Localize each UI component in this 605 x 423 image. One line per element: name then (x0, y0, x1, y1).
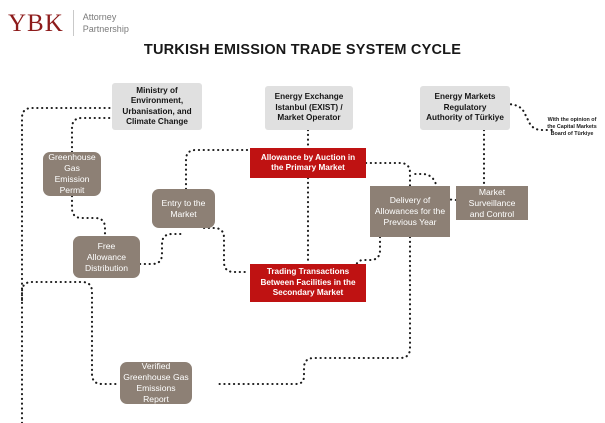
node-secondary-market[interactable]: Trading Transactions Between Facilities … (250, 264, 366, 302)
node-delivery-allowances[interactable]: Delivery of Allowances for the Previous … (370, 186, 450, 237)
node-greenhouse-permit-label: Greenhouse Gas Emission Permit (46, 152, 98, 196)
connector-permit-to-free-allowance (72, 196, 105, 236)
connector-permit-to-ministry (72, 118, 112, 152)
node-secondary-market-label: Trading Transactions Between Facilities … (260, 267, 355, 299)
connector-entry-to-secondary (204, 228, 248, 272)
node-free-allowance-label: Free Allowance Distribution (85, 241, 128, 274)
connector-delivery-to-bottom-loop (218, 237, 410, 384)
node-market-surveillance[interactable]: Market Surveillance and Control (456, 186, 528, 220)
node-entry-market[interactable]: Entry to the Market (152, 189, 215, 228)
node-energy-exchange-label: Energy Exchange Istanbul (EXIST) / Marke… (275, 92, 344, 124)
diagram-canvas: YBK Attorney Partnership TURKISH EMISSIO… (0, 0, 605, 423)
node-delivery-allowances-label: Delivery of Allowances for the Previous … (375, 195, 445, 228)
node-energy-regulator-label: Energy Markets Regulatory Authority of T… (426, 92, 504, 124)
connector-entry-to-exchange (186, 150, 248, 189)
connector-primary-to-delivery (366, 163, 410, 186)
note-capital-markets: With the opinion of the Capital Markets … (543, 117, 601, 138)
node-primary-market[interactable]: Allowance by Auction in the Primary Mark… (250, 148, 366, 178)
node-verified-report-label: Verified Greenhouse Gas Emissions Report (123, 361, 189, 405)
node-ministry-label: Ministry of Environment, Urbanisation, a… (122, 86, 191, 128)
node-ministry[interactable]: Ministry of Environment, Urbanisation, a… (112, 83, 202, 130)
node-greenhouse-permit[interactable]: Greenhouse Gas Emission Permit (43, 152, 101, 196)
node-primary-market-label: Allowance by Auction in the Primary Mark… (261, 153, 355, 174)
node-energy-exchange[interactable]: Energy Exchange Istanbul (EXIST) / Marke… (265, 86, 353, 130)
connector-free-allowance-to-entry (140, 234, 184, 264)
connector-outerloop-to-verified (22, 282, 120, 384)
node-entry-market-label: Entry to the Market (162, 198, 206, 220)
node-verified-report[interactable]: Verified Greenhouse Gas Emissions Report (120, 362, 192, 404)
node-market-surveillance-label: Market Surveillance and Control (459, 187, 525, 220)
node-energy-regulator[interactable]: Energy Markets Regulatory Authority of T… (420, 86, 510, 130)
node-free-allowance[interactable]: Free Allowance Distribution (73, 236, 140, 278)
